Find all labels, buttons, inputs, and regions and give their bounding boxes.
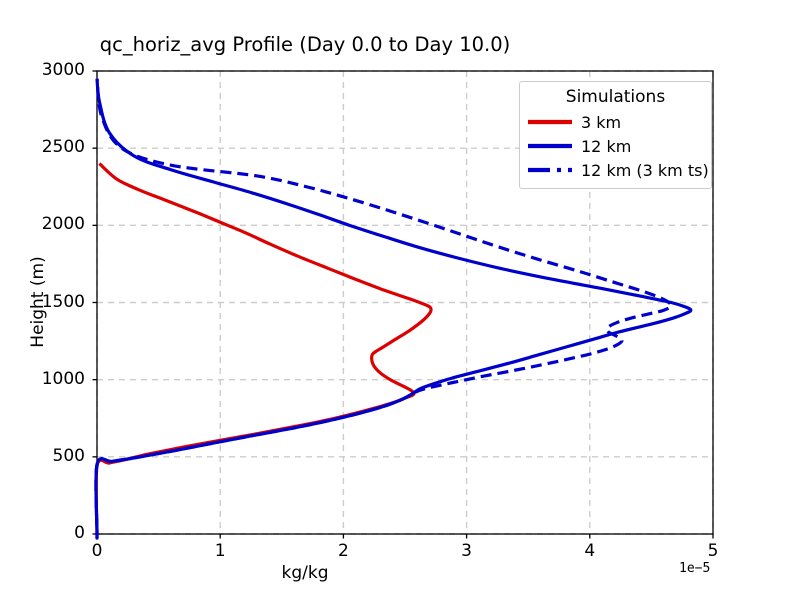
x-tick-label: 3 [447,541,487,561]
legend-swatch-solid-line-icon [527,139,573,153]
legend-entry-label: 3 km [581,113,621,132]
y-tick-label: 3000 [15,60,85,80]
legend-entry[interactable]: 12 km [527,134,704,158]
x-axis-exponent-label: 1e−5 [679,561,710,576]
legend-swatch-dashed-line-icon [527,163,573,177]
legend-box[interactable]: Simulations 3 km12 km12 km (3 km ts) [519,81,712,189]
x-tick-label: 4 [570,541,610,561]
legend-entry-label: 12 km [581,137,631,156]
legend-entry[interactable]: 3 km [527,110,704,134]
series-line-3-km [96,164,431,534]
legend-entry-label: 12 km (3 km ts) [581,161,709,180]
legend-entries: 3 km12 km12 km (3 km ts) [527,110,704,182]
y-tick-label: 1000 [15,369,85,389]
x-axis-label-text: kg/kg [282,563,329,583]
y-tick-label: 2500 [15,137,85,157]
legend-entry[interactable]: 12 km (3 km ts) [527,158,704,182]
x-tick-label: 1 [200,541,240,561]
legend-title: Simulations [527,86,704,110]
y-tick-label: 0 [15,523,85,543]
y-axis-label: Height (m) [28,202,48,402]
legend-swatch-solid-line-icon [527,115,573,129]
y-tick-label: 500 [15,446,85,466]
x-tick-label: 5 [693,541,733,561]
x-tick-label: 0 [77,541,117,561]
y-tick-label: 1500 [15,292,85,312]
matplotlib-figure: qc_horiz_avg Profile (Day 0.0 to Day 10.… [0,0,800,600]
y-tick-label: 2000 [15,214,85,234]
x-tick-label: 2 [323,541,363,561]
